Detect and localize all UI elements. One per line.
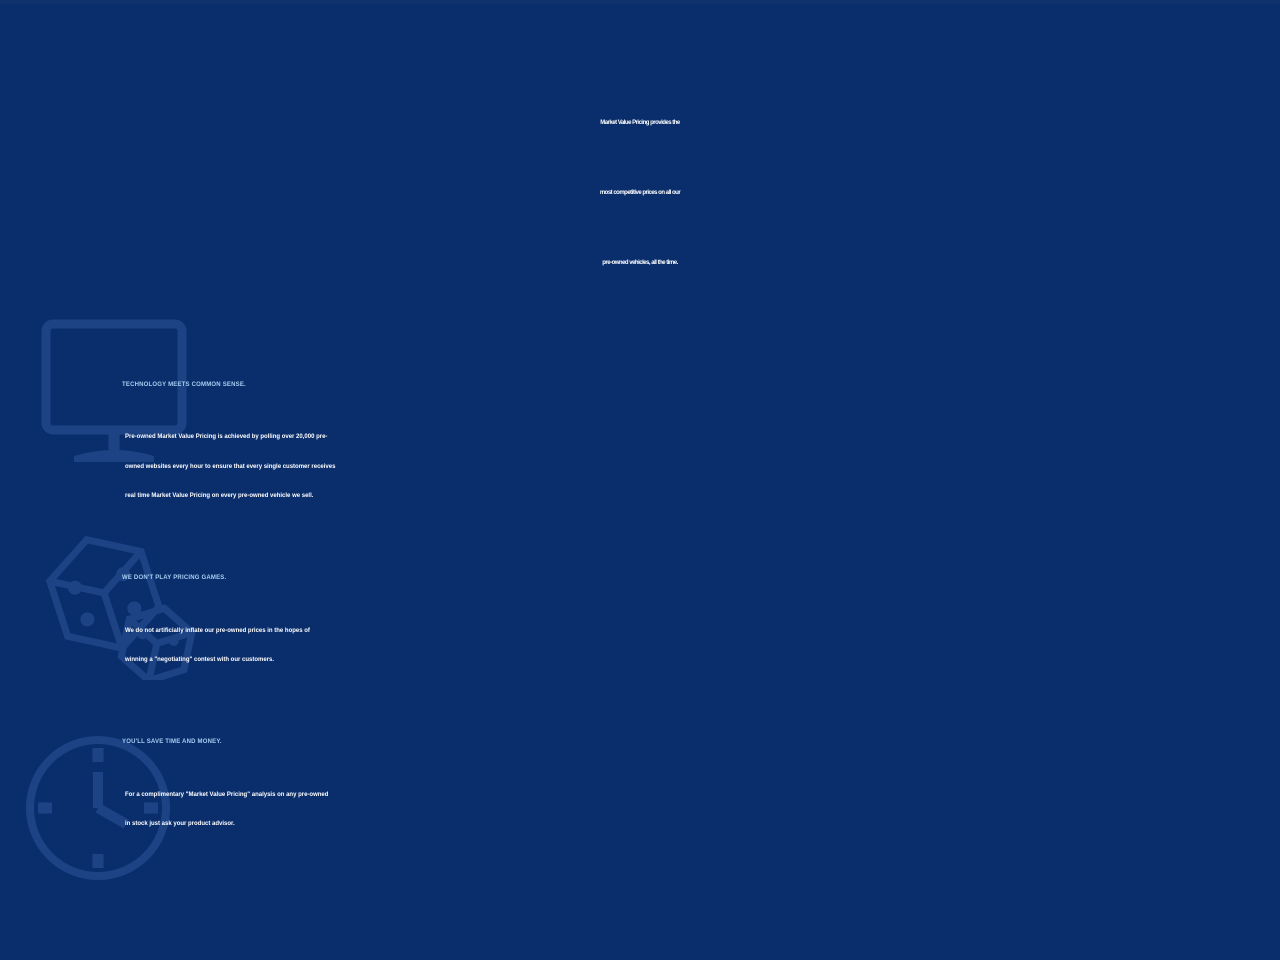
section-body-line: winning a "negotiating" contest with our…	[125, 646, 1182, 676]
section-body-line: We do not artificially inflate our pre-o…	[125, 617, 1182, 647]
page-title: Market Value Pricing provides the most c…	[0, 88, 1280, 298]
section-body: For a complimentary "Market Value Pricin…	[122, 781, 1182, 840]
sections-list: TECHNOLOGY MEETS COMMON SENSE. Pre-owned…	[122, 363, 1182, 840]
section-time-and-money: YOU'LL SAVE TIME AND MONEY. For a compli…	[122, 720, 1182, 840]
section-body-line: in stock just ask your product advisor.	[125, 810, 1182, 840]
section-body: We do not artificially inflate our pre-o…	[122, 617, 1182, 676]
section-heading: YOU'LL SAVE TIME AND MONEY.	[122, 720, 1182, 764]
section-body-line: For a complimentary "Market Value Pricin…	[125, 781, 1182, 811]
section-body-line: Pre-owned Market Value Pricing is achiev…	[125, 423, 1182, 453]
section-technology: TECHNOLOGY MEETS COMMON SENSE. Pre-owned…	[122, 363, 1182, 512]
section-body-line: owned websites every hour to ensure that…	[125, 453, 1182, 483]
section-body: Pre-owned Market Value Pricing is achiev…	[122, 423, 1182, 512]
slide-root: Market Value Pricing provides the most c…	[0, 0, 1280, 960]
section-heading: TECHNOLOGY MEETS COMMON SENSE.	[122, 363, 1182, 407]
headline-line-1: Market Value Pricing provides the	[0, 88, 1280, 158]
section-pricing-games: WE DON'T PLAY PRICING GAMES. We do not a…	[122, 556, 1182, 676]
top-edge-band	[0, 0, 1280, 4]
section-body-line: real time Market Value Pricing on every …	[125, 482, 1182, 512]
section-heading: WE DON'T PLAY PRICING GAMES.	[122, 556, 1182, 600]
headline-line-3: pre-owned vehicles, all the time.	[0, 228, 1280, 298]
headline-line-2: most competitive prices on all our	[0, 158, 1280, 228]
